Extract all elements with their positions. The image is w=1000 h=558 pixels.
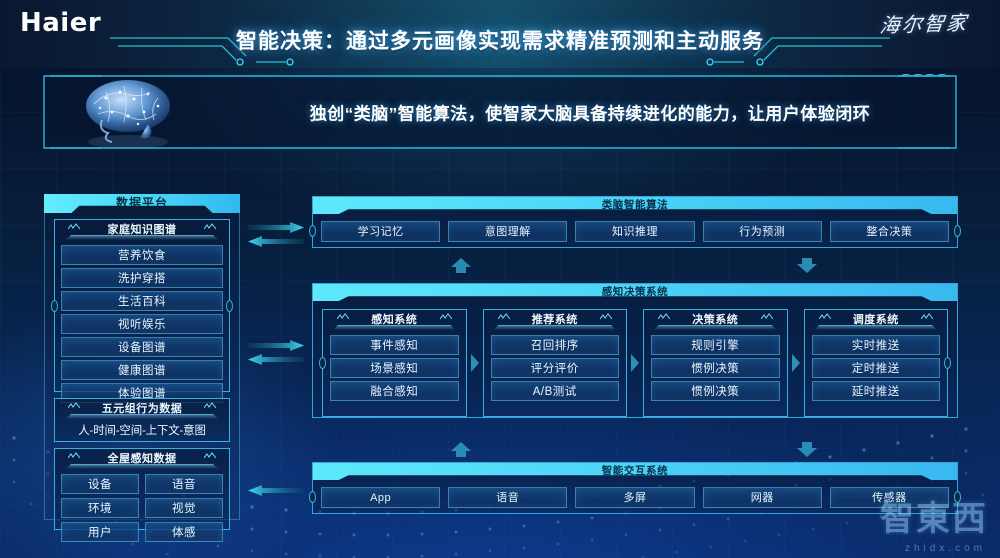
subsystem-decision: 决策系统 规则引擎 惯例决策 惯例决策 (643, 309, 788, 417)
decision-item-routine-decision-2[interactable]: 惯例决策 (651, 381, 780, 401)
perception-item-fusion[interactable]: 融合感知 (330, 381, 459, 401)
connector-dot (309, 225, 316, 237)
connector-dot (309, 491, 316, 503)
group-title: 五元组行为数据 (61, 401, 223, 417)
recommendation-item-recall-ranking[interactable]: 召回排序 (491, 335, 620, 355)
sensing-item-user[interactable]: 用户 (61, 522, 139, 542)
interaction-item-app[interactable]: App (321, 487, 440, 508)
chevron-right-icon-3 (788, 309, 804, 417)
sensing-item-environment[interactable]: 环境 (61, 498, 139, 518)
bidirectional-arrow-algorithm (246, 222, 306, 248)
sensing-item-device[interactable]: 设备 (61, 474, 139, 494)
sparkle-icon (440, 313, 452, 321)
interaction-item-network-device[interactable]: 网器 (703, 487, 822, 508)
scheduling-item-realtime-push[interactable]: 实时推送 (812, 335, 941, 355)
slide-canvas: Haier 智能决策：通过多元画像实现需求精准预测和主动服务 海尔智家 (0, 0, 1000, 558)
connector-dot (319, 357, 326, 369)
group-family-knowledge-graph: 家庭知识图谱 营养饮食 洗护穿搭 生活百科 视听娱乐 设备图谱 健康图谱 体验图… (54, 219, 230, 392)
scheduling-item-delayed-push[interactable]: 延时推送 (812, 381, 941, 401)
five-tuple-text: 人-时间-空间-上下文-意图 (61, 422, 223, 438)
perception-item-event[interactable]: 事件感知 (330, 335, 459, 355)
data-platform-panel: 数据平台 家庭知识图谱 营养饮食 洗护穿搭 生活百科 视听娱乐 设备图谱 健康图… (44, 194, 240, 520)
watermark-logo: 智東西 (880, 491, 988, 540)
subsystem-recommendation: 推荐系统 召回排序 评分评价 A/B测试 (483, 309, 628, 417)
sparkle-icon (921, 313, 933, 321)
subsystem-scheduling: 调度系统 实时推送 定时推送 延时推送 (804, 309, 949, 417)
decision-system-panel: 感知决策系统 感知系统 事件感知 场景感知 融合感知 (312, 283, 958, 418)
group-title: 全屋感知数据 (61, 451, 223, 467)
recommendation-item-ab-test[interactable]: A/B测试 (491, 381, 620, 401)
algo-item-intent-understanding[interactable]: 意图理解 (448, 221, 567, 242)
down-arrow-connector-bottom (796, 442, 818, 458)
sensing-item-voice[interactable]: 语音 (145, 474, 223, 494)
sparkle-icon (600, 313, 612, 321)
decision-items: 规则引擎 惯例决策 惯例决策 (651, 335, 780, 401)
interaction-system-title: 智能交互系统 (313, 463, 957, 480)
algo-item-behavior-prediction[interactable]: 行为预测 (703, 221, 822, 242)
sparkle-icon (204, 452, 216, 460)
bidirectional-arrow-decision (246, 340, 306, 366)
up-arrow-connector-bottom (450, 442, 472, 458)
group-five-tuple-behavior-data: 五元组行为数据 人-时间-空间-上下文-意图 (54, 398, 230, 442)
chevron-right-icon-1 (467, 309, 483, 417)
whole-house-sensing-items: 设备 语音 环境 视觉 用户 体感 (61, 474, 223, 542)
scheduling-items: 实时推送 定时推送 延时推送 (812, 335, 941, 401)
chevron-right-icon-2 (627, 309, 643, 417)
sparkle-icon (337, 313, 349, 321)
page-title: 智能决策：通过多元画像实现需求精准预测和主动服务 (0, 25, 1000, 55)
interaction-item-multiscreen[interactable]: 多屏 (575, 487, 694, 508)
recommendation-items: 召回排序 评分评价 A/B测试 (491, 335, 620, 401)
sparkle-icon (204, 223, 216, 231)
sparkle-icon (761, 313, 773, 321)
sensing-item-somatosensory[interactable]: 体感 (145, 522, 223, 542)
sparkle-icon (204, 402, 216, 410)
banner-text: 独创“类脑”智能算法，使智家大脑具备持续进化的能力，让用户体验闭环 (262, 100, 918, 125)
algorithm-system-title: 类脑智能算法 (313, 197, 957, 214)
scheduling-item-scheduled-push[interactable]: 定时推送 (812, 358, 941, 378)
algo-item-knowledge-reasoning[interactable]: 知识推理 (575, 221, 694, 242)
sparkle-icon (819, 313, 831, 321)
algorithm-items: 学习记忆 意图理解 知识推理 行为预测 整合决策 (321, 221, 949, 242)
brain-illustration-icon (72, 72, 192, 152)
algorithm-system-body: 学习记忆 意图理解 知识推理 行为预测 整合决策 (313, 214, 957, 250)
algorithm-system-panel: 类脑智能算法 学习记忆 意图理解 知识推理 行为预测 整合决策 (312, 196, 958, 248)
kg-item-laundry-dressing[interactable]: 洗护穿搭 (61, 268, 223, 288)
watermark: 智東西 zhidx.com (824, 498, 994, 556)
algo-item-learning-memory[interactable]: 学习记忆 (321, 221, 440, 242)
sparkle-icon (68, 223, 80, 231)
sparkle-icon (498, 313, 510, 321)
subsystem-perception: 感知系统 事件感知 场景感知 融合感知 (322, 309, 467, 417)
decision-subsystems: 感知系统 事件感知 场景感知 融合感知 (322, 309, 948, 417)
kg-item-health-graph[interactable]: 健康图谱 (61, 360, 223, 380)
haier-smart-home-logo: 海尔智家 (862, 4, 986, 44)
group-whole-house-sensing-data: 全屋感知数据 设备 语音 环境 视觉 用户 体感 (54, 448, 230, 530)
algo-item-integrated-decision[interactable]: 整合决策 (830, 221, 949, 242)
connector-dot (226, 300, 233, 312)
group-title: 家庭知识图谱 (61, 222, 223, 238)
connector-dot (954, 225, 961, 237)
sparkle-icon (68, 452, 80, 460)
decision-system-title: 感知决策系统 (313, 284, 957, 301)
decision-item-routine-decision-1[interactable]: 惯例决策 (651, 358, 780, 378)
perception-item-scene[interactable]: 场景感知 (330, 358, 459, 378)
subtitle-banner: 独创“类脑”智能算法，使智家大脑具备持续进化的能力，让用户体验闭环 (42, 74, 958, 150)
connector-dot (944, 357, 951, 369)
down-arrow-connector (796, 258, 818, 274)
sparkle-icon (658, 313, 670, 321)
kg-item-life-encyclopedia[interactable]: 生活百科 (61, 291, 223, 311)
left-arrow-interaction (246, 485, 306, 497)
decision-system-body: 感知系统 事件感知 场景感知 融合感知 (313, 301, 957, 426)
up-arrow-connector (450, 258, 472, 274)
perception-items: 事件感知 场景感知 融合感知 (330, 335, 459, 401)
watermark-url: zhidx.com (905, 543, 986, 554)
kg-item-device-graph[interactable]: 设备图谱 (61, 337, 223, 357)
decision-item-rule-engine[interactable]: 规则引擎 (651, 335, 780, 355)
interaction-item-voice[interactable]: 语音 (448, 487, 567, 508)
kg-item-av-entertainment[interactable]: 视听娱乐 (61, 314, 223, 334)
family-knowledge-graph-items: 营养饮食 洗护穿搭 生活百科 视听娱乐 设备图谱 健康图谱 体验图谱 (61, 245, 223, 403)
kg-item-nutrition[interactable]: 营养饮食 (61, 245, 223, 265)
recommendation-item-scoring[interactable]: 评分评价 (491, 358, 620, 378)
sparkle-icon (68, 402, 80, 410)
slide-header: Haier 智能决策：通过多元画像实现需求精准预测和主动服务 海尔智家 (0, 0, 1000, 68)
connector-dot (51, 300, 58, 312)
sensing-item-vision[interactable]: 视觉 (145, 498, 223, 518)
